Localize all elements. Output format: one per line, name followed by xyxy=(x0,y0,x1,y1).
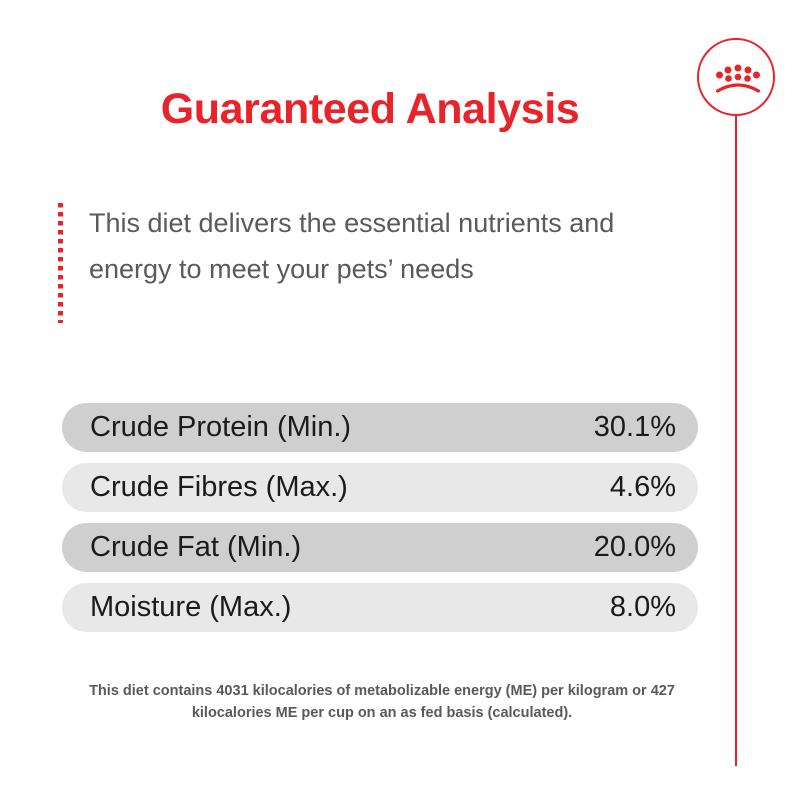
analysis-table: Crude Protein (Min.) 30.1% Crude Fibres … xyxy=(62,403,698,643)
nutrient-label: Crude Fat (Min.) xyxy=(90,533,594,562)
intro-text: This diet delivers the essential nutrien… xyxy=(89,200,699,292)
page-title: Guaranteed Analysis xyxy=(0,86,740,133)
table-row: Crude Fat (Min.) 20.0% xyxy=(62,523,698,572)
nutrient-label: Crude Fibres (Max.) xyxy=(90,473,610,502)
royal-canin-crown-icon xyxy=(713,59,763,99)
table-row: Moisture (Max.) 8.0% xyxy=(62,583,698,632)
dotted-vertical-rule-icon xyxy=(58,203,63,323)
calorie-footnote: This diet contains 4031 kilocalories of … xyxy=(72,680,692,724)
guaranteed-analysis-panel: Guaranteed Analysis This diet delivers t… xyxy=(0,0,800,800)
brand-vertical-rule xyxy=(735,98,737,766)
table-row: Crude Fibres (Max.) 4.6% xyxy=(62,463,698,512)
table-row: Crude Protein (Min.) 30.1% xyxy=(62,403,698,452)
nutrient-value: 8.0% xyxy=(610,593,676,622)
nutrient-value: 30.1% xyxy=(594,413,676,442)
nutrient-label: Crude Protein (Min.) xyxy=(90,413,594,442)
intro-block: This diet delivers the essential nutrien… xyxy=(58,200,718,323)
nutrient-value: 4.6% xyxy=(610,473,676,502)
nutrient-value: 20.0% xyxy=(594,533,676,562)
nutrient-label: Moisture (Max.) xyxy=(90,593,610,622)
brand-logo xyxy=(697,38,783,768)
logo-circle-outline xyxy=(697,38,775,116)
